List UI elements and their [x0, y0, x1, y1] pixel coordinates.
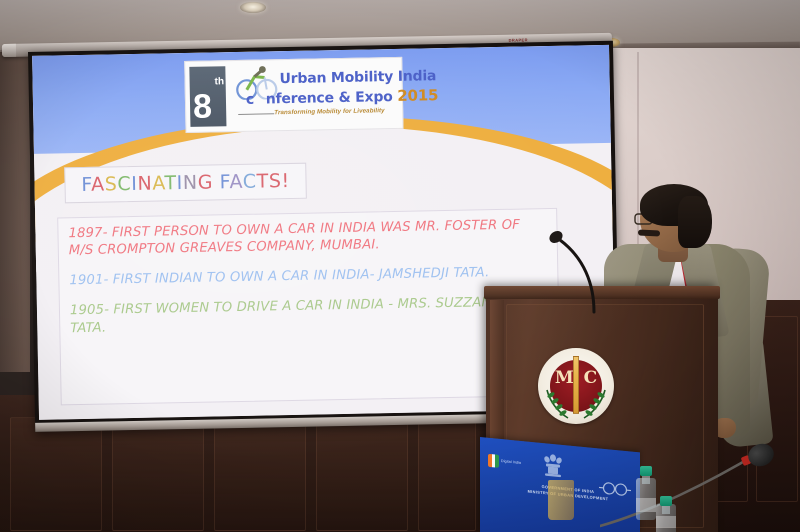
microphone-head-group	[600, 430, 800, 530]
fact-item: 1905- FIRST WOMEN TO DRIVE A CAR IN INDI…	[70, 294, 549, 337]
housing-end-cap	[2, 44, 16, 57]
title-letter: F	[81, 174, 91, 196]
ashoka-emblem	[542, 451, 564, 483]
title-letter: N	[183, 172, 198, 194]
edition-suffix: th	[215, 76, 225, 87]
title-letter: G	[198, 171, 214, 193]
edition-number: 8	[193, 89, 213, 123]
speaker-hair-back	[678, 196, 712, 248]
logo-line2: cOnference & Expo 2015	[246, 86, 439, 108]
microphone-head	[745, 440, 777, 470]
logo-year: 2015	[397, 86, 438, 105]
title-letter: A	[91, 174, 105, 196]
left-wall-dark	[0, 52, 30, 372]
fact-item: 1897- FIRST PERSON TO OWN A CAR IN INDIA…	[68, 216, 547, 259]
title-letter: N	[137, 173, 152, 195]
conference-logo: 8 th Urban Mobility India	[184, 57, 403, 133]
title-letter: T	[256, 170, 269, 192]
digital-india-label: Digital India	[501, 459, 521, 465]
laurel-leaf-icon	[542, 386, 572, 420]
slide-title-box: FASCINATING FACTS!	[64, 163, 307, 204]
speaker-moustache	[638, 229, 660, 236]
recessed-ceiling-light-icon	[240, 2, 266, 13]
title-letter: S	[269, 170, 282, 192]
title-letter: C	[243, 171, 257, 193]
logo-line1: Urban Mobility India	[279, 68, 436, 87]
gooseneck-microphone-icon	[538, 224, 608, 314]
logo-text-group: Urban Mobility India cOnference & Expo 2…	[227, 61, 398, 128]
water-bottle-icon	[656, 496, 676, 532]
laurel-leaf-icon	[580, 386, 610, 420]
logo-line2-o: O	[254, 91, 266, 107]
title-letter: A	[152, 172, 165, 194]
podium-emblem: MC	[538, 348, 614, 424]
fact-item: 1901- FIRST INDIAN TO OWN A CAR IN INDIA…	[69, 263, 547, 289]
logo-tagline-rule	[238, 113, 274, 115]
beverage-glass	[548, 480, 574, 520]
conference-photo-scene: DRAPER 8 th	[0, 0, 800, 532]
title-letter: !	[281, 170, 290, 192]
title-letter: C	[117, 173, 131, 195]
logo-line2-rest: nference & Expo	[266, 89, 398, 108]
title-letter: A	[229, 171, 243, 193]
water-bottle-icon	[636, 466, 656, 520]
digital-india-logo: Digital India	[488, 452, 522, 471]
title-letter: F	[219, 171, 229, 193]
logo-tagline: Transforming Mobility for Liveability	[274, 107, 385, 116]
title-letter: S	[105, 173, 118, 195]
emblem-torch-icon	[573, 356, 579, 414]
edition-badge: 8 th	[189, 66, 226, 127]
title-letter: T	[164, 172, 177, 194]
page-title: FASCINATING FACTS!	[81, 170, 290, 196]
tricolour-mark-icon	[488, 453, 499, 467]
